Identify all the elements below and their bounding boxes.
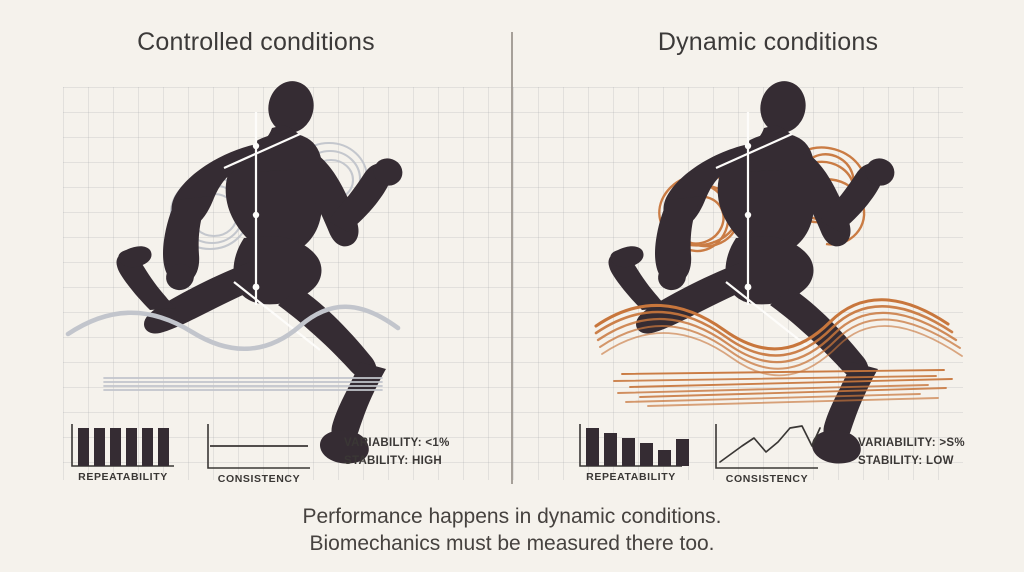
axis-label-repeatability-controlled: REPEATABILITY	[62, 471, 184, 483]
axis-label-consistency-controlled: CONSISTENCY	[198, 473, 320, 485]
metric-stability-dynamic: STABILITY: LOW	[858, 455, 954, 467]
axis-label-repeatability-dynamic: REPEATABILITY	[570, 471, 692, 483]
metric-variability-dynamic: VARIABILITY: >S%	[858, 437, 965, 449]
caption-line-2: Biomechanics must be measured there too.	[0, 532, 1024, 556]
axis-label-consistency-dynamic: CONSISTENCY	[706, 473, 828, 485]
panel-title-right: Dynamic conditions	[512, 28, 1024, 57]
metric-variability-controlled: VARIABILITY: <1%	[344, 437, 450, 449]
grid-background	[63, 87, 963, 480]
metric-stability-controlled: STABILITY: HIGH	[344, 455, 442, 467]
caption-line-1: Performance happens in dynamic condition…	[0, 505, 1024, 529]
panel-title-left: Controlled conditions	[0, 28, 512, 57]
